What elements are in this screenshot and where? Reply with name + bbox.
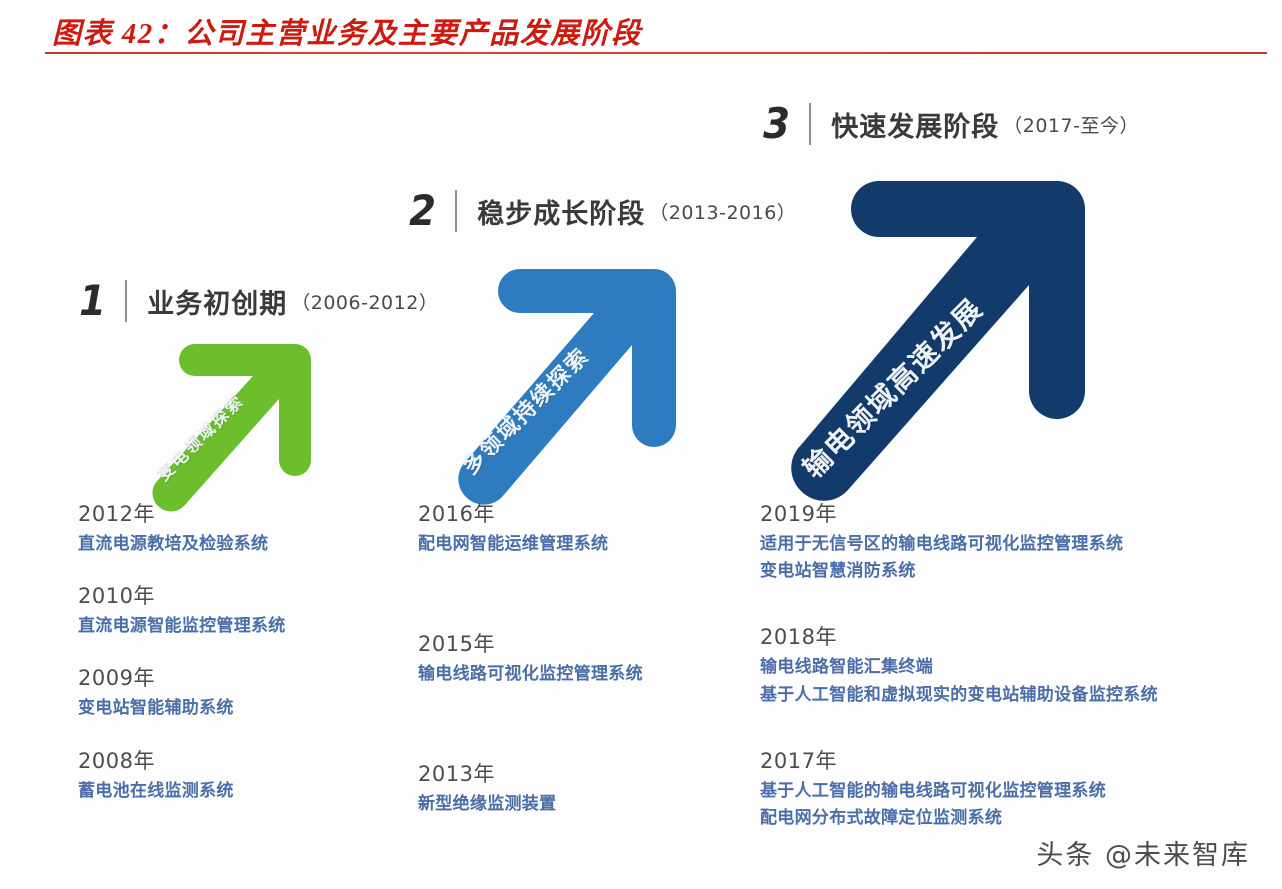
page-title: 图表 42：公司主营业务及主要产品发展阶段: [52, 10, 642, 52]
stage-divider-1: [125, 280, 127, 322]
timeline-entry: 2008年 蓄电池在线监测系统: [78, 745, 418, 805]
stage-divider-3: [809, 103, 811, 145]
entry-year: 2017年: [760, 745, 1230, 775]
entry-item: 变电站智慧消防系统: [760, 558, 1230, 585]
entry-year: 2010年: [78, 580, 418, 610]
entry-item: 配电网智能运维管理系统: [418, 531, 748, 558]
arrow-up-right-icon: [458, 269, 676, 505]
timeline-entry: 2017年 基于人工智能的输电线路可视化监控管理系统 配电网分布式故障定位监测系…: [760, 745, 1230, 832]
stage-range-3: （2017-至今）: [1003, 111, 1139, 138]
watermark: 头条 @未来智库: [1036, 833, 1250, 872]
stage-divider-2: [455, 190, 457, 232]
entry-item: 新型绝缘监测装置: [418, 791, 748, 818]
timeline-entry: 2016年 配电网智能运维管理系统: [418, 498, 748, 558]
entry-item: 适用于无信号区的输电线路可视化监控管理系统: [760, 531, 1230, 558]
entry-item: 基于人工智能和虚拟现实的变电站辅助设备监控系统: [760, 682, 1230, 709]
entry-year: 2012年: [78, 498, 418, 528]
entry-item: 基于人工智能的输电线路可视化监控管理系统: [760, 778, 1230, 805]
timeline-entry: 2015年 输电线路可视化监控管理系统: [418, 628, 748, 688]
timeline-column-3: 2019年 适用于无信号区的输电线路可视化监控管理系统 变电站智慧消防系统 20…: [760, 498, 1230, 868]
entry-year: 2018年: [760, 621, 1230, 651]
timeline-entry: 2009年 变电站智能辅助系统: [78, 662, 418, 722]
entry-year: 2009年: [78, 662, 418, 692]
entry-item: 配电网分布式故障定位监测系统: [760, 805, 1230, 832]
stage-header-2: 2 稳步成长阶段 （2013-2016）: [408, 190, 796, 232]
entry-item: 变电站智能辅助系统: [78, 695, 418, 722]
stage-number-3: 3: [763, 103, 790, 145]
timeline-entry: 2010年 直流电源智能监控管理系统: [78, 580, 418, 640]
stage-number-1: 1: [79, 280, 106, 322]
entry-year: 2008年: [78, 745, 418, 775]
entry-year: 2015年: [418, 628, 748, 658]
entry-item: 直流电源智能监控管理系统: [78, 613, 418, 640]
entry-year: 2013年: [418, 758, 748, 788]
title-divider: [45, 52, 1267, 54]
entry-item: 直流电源教培及检验系统: [78, 531, 418, 558]
timeline-entry: 2018年 输电线路智能汇集终端 基于人工智能和虚拟现实的变电站辅助设备监控系统: [760, 621, 1230, 708]
timeline-entry: 2013年 新型绝缘监测装置: [418, 758, 748, 818]
stage-label-2: 稳步成长阶段: [477, 192, 645, 231]
entry-item: 蓄电池在线监测系统: [78, 778, 418, 805]
entry-year: 2016年: [418, 498, 748, 528]
stage-header-1: 1 业务初创期 （2006-2012）: [78, 280, 438, 322]
entry-item: 输电线路可视化监控管理系统: [418, 661, 748, 688]
stage-range-1: （2006-2012）: [291, 288, 438, 315]
stage-header-3: 3 快速发展阶段 （2017-至今）: [762, 103, 1139, 145]
timeline-entry: 2019年 适用于无信号区的输电线路可视化监控管理系统 变电站智慧消防系统: [760, 498, 1230, 585]
arrow-up-right-icon: [791, 181, 1085, 501]
arrow-up-right-icon: [152, 344, 311, 512]
timeline-column-2: 2016年 配电网智能运维管理系统 2015年 输电线路可视化监控管理系统 20…: [418, 498, 748, 889]
timeline-column-1: 2012年 直流电源教培及检验系统 2010年 直流电源智能监控管理系统 200…: [78, 498, 418, 827]
title-bar: 图表 42：公司主营业务及主要产品发展阶段: [0, 0, 1282, 58]
figure-canvas: 1 业务初创期 （2006-2012） 变电领域探索 2 稳步成长阶段 （201…: [0, 58, 1282, 888]
timeline-entry: 2012年 直流电源教培及检验系统: [78, 498, 418, 558]
stage-label-1: 业务初创期: [147, 282, 287, 321]
entry-year: 2019年: [760, 498, 1230, 528]
stage-label-3: 快速发展阶段: [831, 105, 999, 144]
stage-number-2: 2: [409, 190, 436, 232]
entry-item: 输电线路智能汇集终端: [760, 654, 1230, 681]
